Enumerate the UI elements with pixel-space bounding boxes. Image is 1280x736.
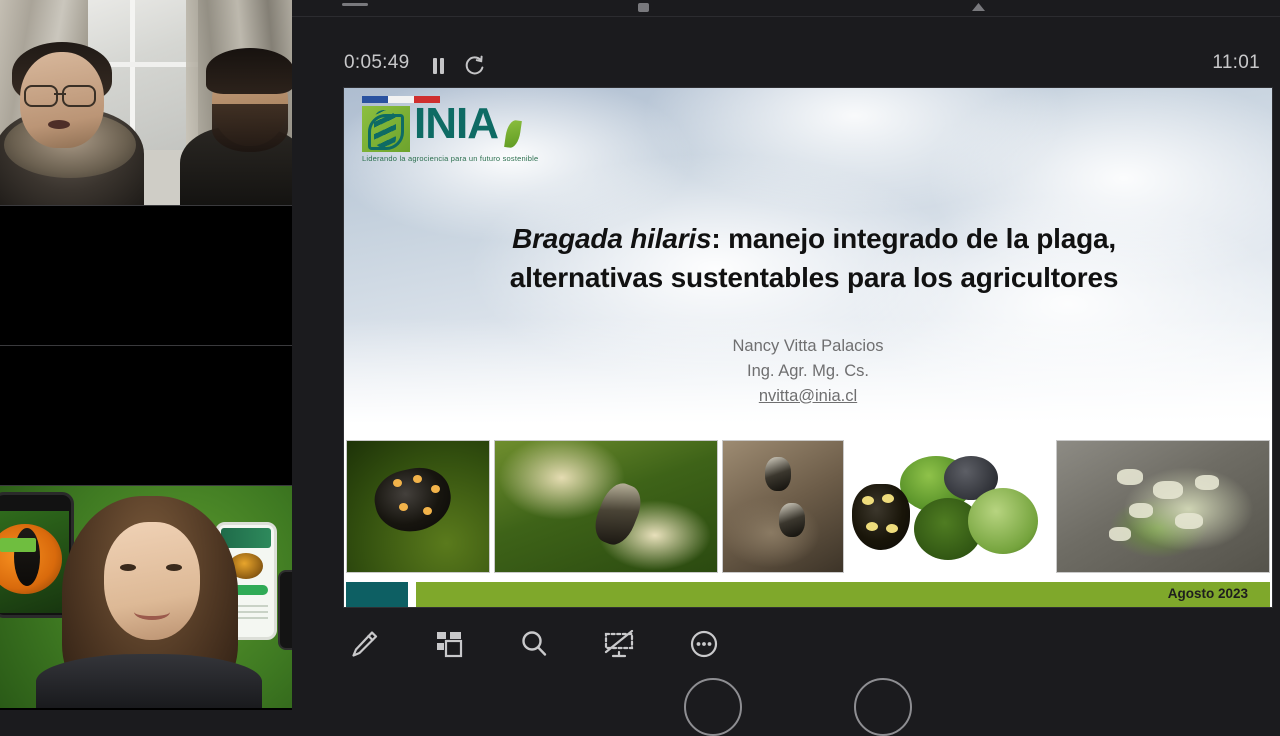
participant-tile-3[interactable] xyxy=(0,346,292,486)
photo-bugs-on-soil xyxy=(722,440,844,573)
slide-date: Agosto 2023 xyxy=(1168,586,1248,601)
person-4-shoulders xyxy=(36,654,262,708)
background-phone-far-right xyxy=(278,570,292,650)
participant-tile-2[interactable] xyxy=(0,206,292,346)
inia-logo: INIA Liderando la agrociencia para un fu… xyxy=(356,96,546,168)
presentation-slide[interactable]: INIA Liderando la agrociencia para un fu… xyxy=(344,88,1272,607)
slide-author-block: Nancy Vitta Palacios Ing. Agr. Mg. Cs. n… xyxy=(608,334,1008,408)
inia-logo-wordmark: INIA xyxy=(414,102,498,146)
stop-sharing-icon[interactable] xyxy=(600,624,639,664)
menu-bar-icon[interactable] xyxy=(342,3,368,6)
slide-photo-strip xyxy=(344,436,1272,576)
photo-bug-on-yellow-flower xyxy=(346,440,490,573)
inia-logo-tagline: Liderando la agrociencia para un futuro … xyxy=(362,154,538,163)
partial-icon-center[interactable] xyxy=(638,3,649,12)
person-2-beard xyxy=(212,104,288,152)
person-1-glasses xyxy=(24,85,96,103)
presentation-toolbar xyxy=(344,616,724,672)
bottom-control-button-2[interactable] xyxy=(854,678,912,736)
author-name: Nancy Vitta Palacios xyxy=(608,334,1008,359)
slide-title-species: Bragada hilaris xyxy=(512,223,711,254)
person-4-face xyxy=(104,522,200,640)
magnifier-icon[interactable] xyxy=(514,624,553,664)
pen-icon[interactable] xyxy=(344,624,383,664)
author-credentials: Ing. Agr. Mg. Cs. xyxy=(608,359,1008,384)
inia-logo-leaf-icon xyxy=(504,119,522,149)
layout-icon[interactable] xyxy=(429,624,468,664)
elapsed-timer: 0:05:49 xyxy=(344,52,410,74)
bottom-control-button-1[interactable] xyxy=(684,678,742,736)
person-1-mouth xyxy=(48,120,70,129)
slide-footer-green-bar xyxy=(416,582,1270,607)
participant-tile-4[interactable] xyxy=(0,486,292,708)
inia-logo-mark-icon xyxy=(362,106,410,152)
partial-chevron-up-icon[interactable] xyxy=(972,3,985,11)
slide-footer-teal-block xyxy=(346,582,408,607)
person-2-hair xyxy=(206,48,292,94)
shared-screen-stage: 0:05:49 11:01 INIA xyxy=(292,0,1280,710)
participant-rail xyxy=(0,0,292,710)
author-email-link[interactable]: nvitta@inia.cl xyxy=(608,384,1008,409)
top-control-strip xyxy=(292,0,1280,17)
photo-bug-with-brassica-vegetables xyxy=(848,440,1048,571)
slide-footer: Agosto 2023 xyxy=(344,580,1272,607)
timer-bar: 0:05:49 11:01 xyxy=(292,46,1280,88)
person-4-smile xyxy=(134,604,170,620)
photo-damaged-crop-on-soil xyxy=(1056,440,1270,573)
pause-timer-button[interactable] xyxy=(426,54,450,78)
person-4-eye-left xyxy=(120,564,136,571)
person-4-eye-right xyxy=(166,564,182,571)
restart-timer-button[interactable] xyxy=(462,54,486,78)
meeting-screen-share-window: 0:05:49 11:01 INIA xyxy=(0,0,1280,710)
photo-bugs-on-damaged-leaves xyxy=(494,440,718,573)
wall-clock: 11:01 xyxy=(1212,52,1260,74)
participant-tile-1[interactable] xyxy=(0,0,292,206)
background-green-tag xyxy=(0,538,36,552)
slide-title: Bragada hilaris: manejo integrado de la … xyxy=(454,220,1174,297)
more-options-icon[interactable] xyxy=(685,624,724,664)
